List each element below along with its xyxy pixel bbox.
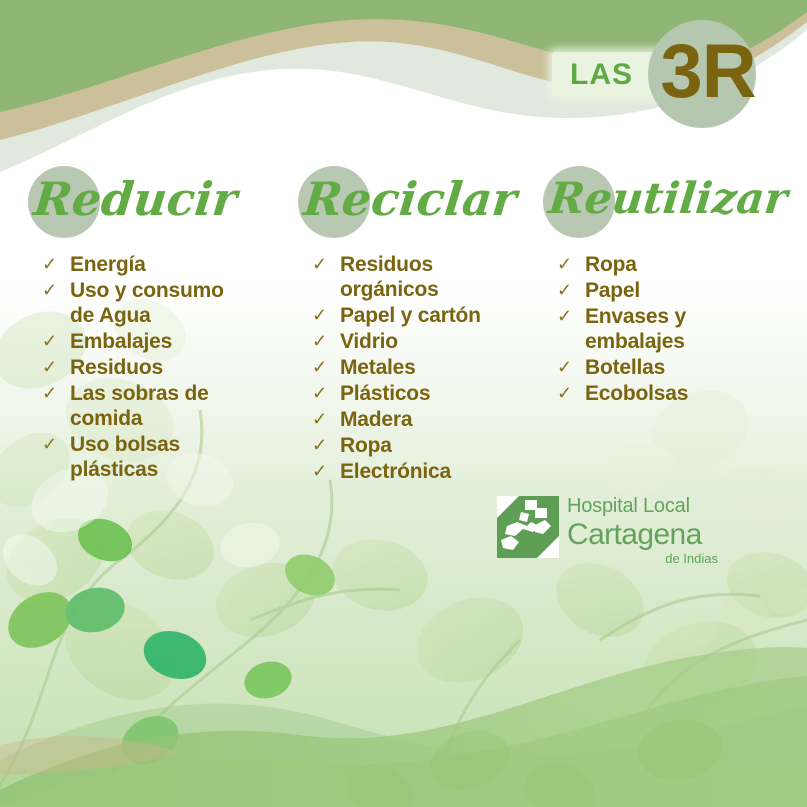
list-item-line: Uso y consumo: [70, 278, 224, 303]
las-3r-badge: LAS 3R: [548, 16, 798, 131]
column-heading-reducir: Reducir: [26, 160, 286, 246]
logo-line-cartagena: Cartagena: [567, 518, 722, 551]
checkmark-icon: ✓: [42, 432, 57, 457]
list-item: ✓ Envases y embalajes: [555, 304, 688, 354]
list-item-line: Residuos: [340, 252, 481, 277]
column-heading-reciclar: Reciclar: [296, 160, 536, 246]
list-item: ✓ Residuos: [40, 355, 224, 380]
column-reutilizar: Reutilizar ✓ Ropa ✓ Papel ✓ Envases y em…: [541, 160, 807, 246]
list-reducir: ✓ Energía ✓ Uso y consumo de Agua ✓ Emba…: [40, 252, 224, 483]
column-reciclar: Reciclar ✓ Residuos orgánicos ✓ Papel y …: [296, 160, 536, 246]
list-item-line: de Agua: [70, 303, 224, 328]
list-item-line: Madera: [340, 407, 481, 432]
checkmark-icon: ✓: [557, 278, 572, 303]
list-item-line: Embalajes: [70, 329, 224, 354]
list-item-line: embalajes: [585, 329, 688, 354]
content-columns: Reducir ✓ Energía ✓ Uso y consumo de Agu…: [0, 160, 807, 490]
list-item-line: Envases y: [585, 304, 688, 329]
list-item-line: Energía: [70, 252, 224, 277]
list-item-line: Plásticos: [340, 381, 481, 406]
logo-line-de-indias: de Indias: [567, 551, 722, 567]
list-item-line: Botellas: [585, 355, 688, 380]
list-item-line: plásticas: [70, 457, 224, 482]
column-reducir: Reducir ✓ Energía ✓ Uso y consumo de Agu…: [26, 160, 286, 246]
list-item: ✓ Ropa: [555, 252, 688, 277]
checkmark-icon: ✓: [312, 459, 327, 484]
list-item-line: Vidrio: [340, 329, 481, 354]
checkmark-icon: ✓: [557, 381, 572, 406]
list-item: ✓ Papel y cartón: [310, 303, 481, 328]
checkmark-icon: ✓: [557, 304, 572, 329]
checkmark-icon: ✓: [557, 355, 572, 380]
checkmark-icon: ✓: [312, 329, 327, 354]
checkmark-icon: ✓: [312, 252, 327, 277]
heading-text: Reducir: [31, 168, 240, 230]
list-item: ✓ Uso bolsas plásticas: [40, 432, 224, 482]
list-item: ✓ Energía: [40, 252, 224, 277]
list-item: ✓ Plásticos: [310, 381, 481, 406]
list-item: ✓ Embalajes: [40, 329, 224, 354]
hospital-logo-text: Hospital Local Cartagena de Indias: [567, 494, 722, 567]
checkmark-icon: ✓: [312, 303, 327, 328]
logo-line-hospital-local: Hospital Local: [567, 494, 722, 518]
list-item: ✓ Botellas: [555, 355, 688, 380]
list-item: ✓ Madera: [310, 407, 481, 432]
list-item-line: Las sobras de: [70, 381, 224, 406]
list-item-line: Metales: [340, 355, 481, 380]
list-item: ✓ Ropa: [310, 433, 481, 458]
checkmark-icon: ✓: [312, 433, 327, 458]
list-item-line: orgánicos: [340, 277, 481, 302]
poster-canvas: LAS 3R Reducir ✓ Energía ✓ Uso y consumo…: [0, 0, 807, 807]
list-item: ✓ Metales: [310, 355, 481, 380]
column-heading-reutilizar: Reutilizar: [541, 160, 807, 246]
list-item-line: Ecobolsas: [585, 381, 688, 406]
checkmark-icon: ✓: [42, 278, 57, 303]
list-item: ✓ Ecobolsas: [555, 381, 688, 406]
list-item: ✓ Electrónica: [310, 459, 481, 484]
heading-text: Reutilizar: [546, 168, 791, 230]
list-item: ✓ Uso y consumo de Agua: [40, 278, 224, 328]
checkmark-icon: ✓: [42, 381, 57, 406]
hospital-logo-mark-icon: [497, 496, 559, 558]
checkmark-icon: ✓: [312, 355, 327, 380]
list-item-line: Residuos: [70, 355, 224, 380]
checkmark-icon: ✓: [42, 252, 57, 277]
checkmark-icon: ✓: [42, 329, 57, 354]
checkmark-icon: ✓: [312, 407, 327, 432]
list-reciclar: ✓ Residuos orgánicos ✓ Papel y cartón ✓ …: [310, 252, 481, 485]
heading-text: Reciclar: [301, 168, 520, 230]
list-item: ✓ Las sobras de comida: [40, 381, 224, 431]
list-item-line: Electrónica: [340, 459, 481, 484]
three-r-label: 3R: [658, 24, 758, 120]
list-item: ✓ Papel: [555, 278, 688, 303]
list-item-line: Papel y cartón: [340, 303, 481, 328]
list-item-line: Uso bolsas: [70, 432, 224, 457]
list-item-line: comida: [70, 406, 224, 431]
checkmark-icon: ✓: [42, 355, 57, 380]
list-item: ✓ Vidrio: [310, 329, 481, 354]
list-item-line: Ropa: [340, 433, 481, 458]
list-item-line: Ropa: [585, 252, 688, 277]
las-label: LAS: [570, 57, 633, 93]
checkmark-icon: ✓: [312, 381, 327, 406]
list-reutilizar: ✓ Ropa ✓ Papel ✓ Envases y embalajes ✓ B…: [555, 252, 688, 407]
checkmark-icon: ✓: [557, 252, 572, 277]
list-item-line: Papel: [585, 278, 688, 303]
list-item: ✓ Residuos orgánicos: [310, 252, 481, 302]
hospital-logo: Hospital Local Cartagena de Indias: [497, 494, 722, 576]
